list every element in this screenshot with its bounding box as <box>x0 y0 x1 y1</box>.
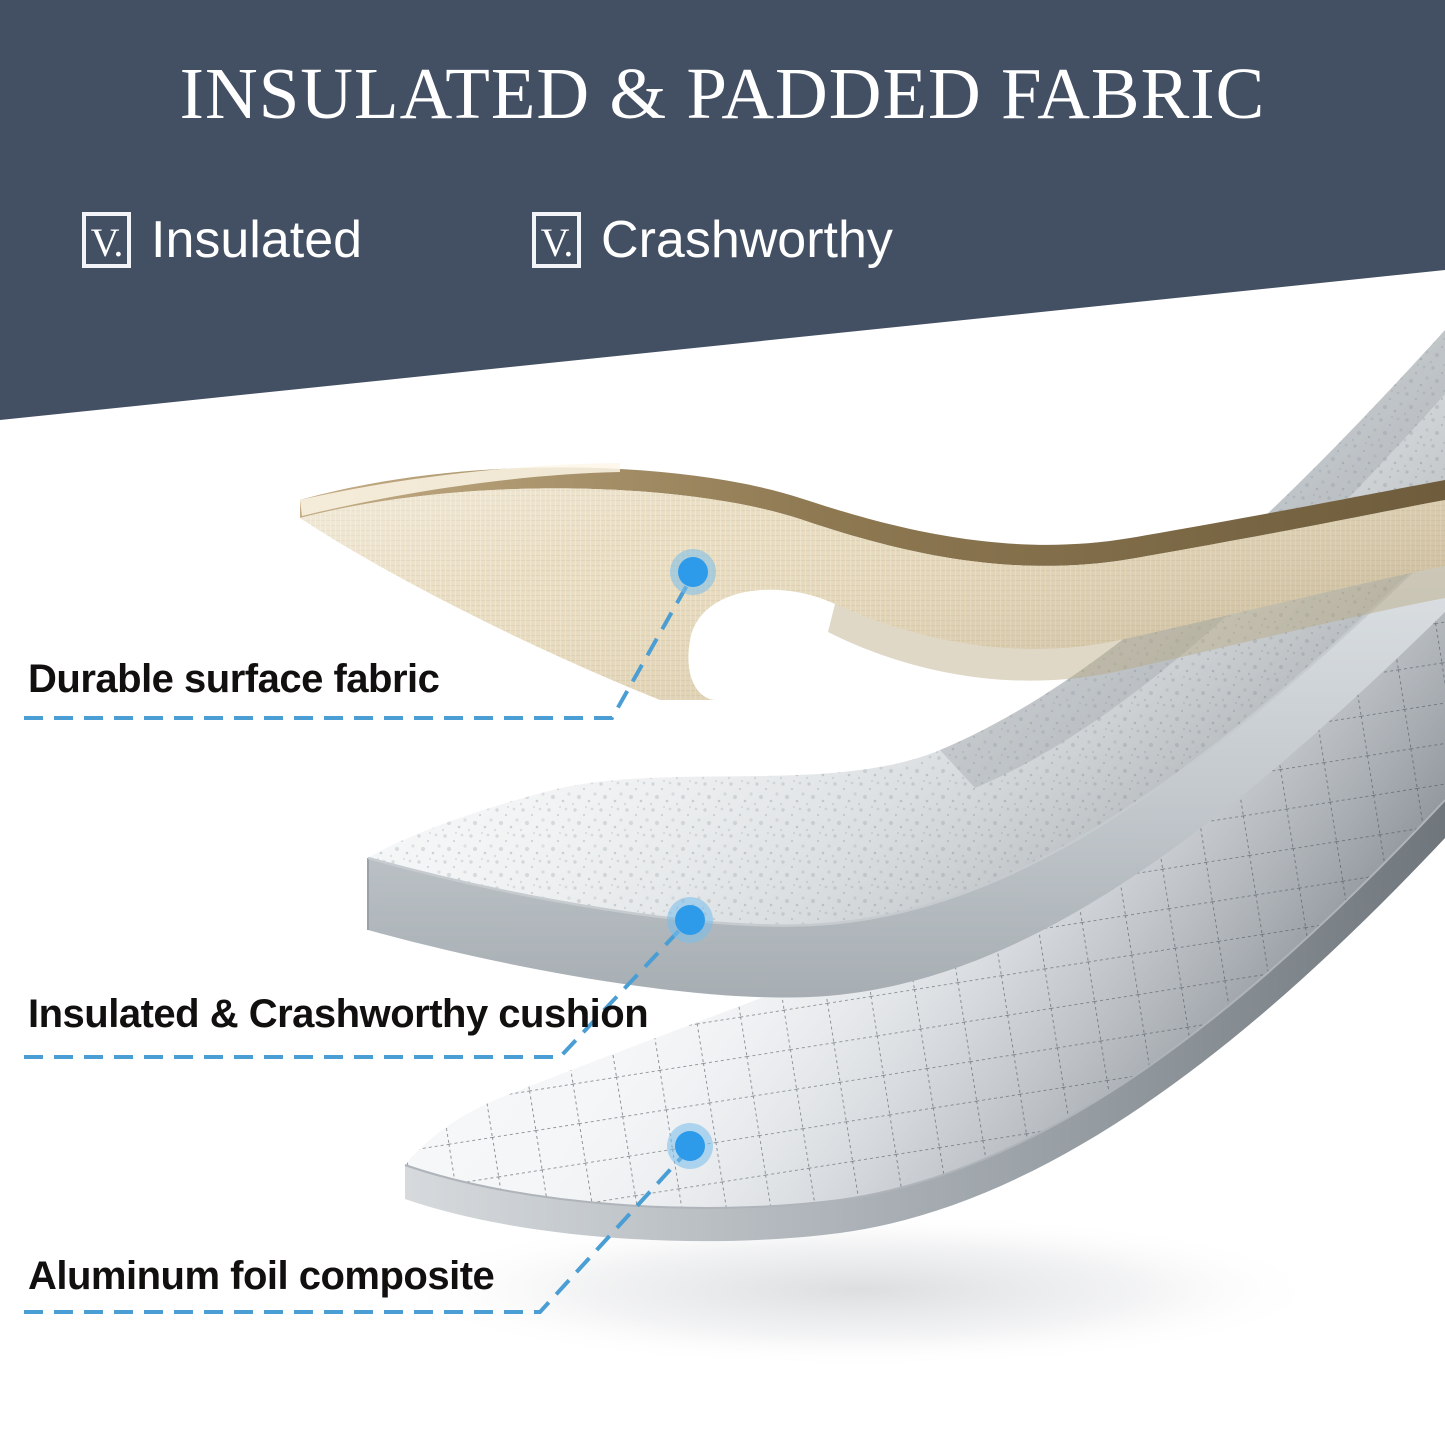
callout-dot-foil[interactable] <box>667 1123 713 1169</box>
callout-dot-surface-fabric[interactable] <box>670 549 716 595</box>
annotation-foil: Aluminum foil composite <box>28 1252 494 1300</box>
callout-dot-cushion[interactable] <box>667 897 713 943</box>
infographic-page: INSULATED & PADDED FABRIC V. Insulated V… <box>0 0 1445 1445</box>
annotation-cushion: Insulated & Crashworthy cushion <box>28 990 648 1038</box>
annotation-surface-fabric: Durable surface fabric <box>28 655 439 703</box>
leader-line-surface-fabric <box>0 560 740 730</box>
leader-line-foil <box>0 1130 740 1350</box>
